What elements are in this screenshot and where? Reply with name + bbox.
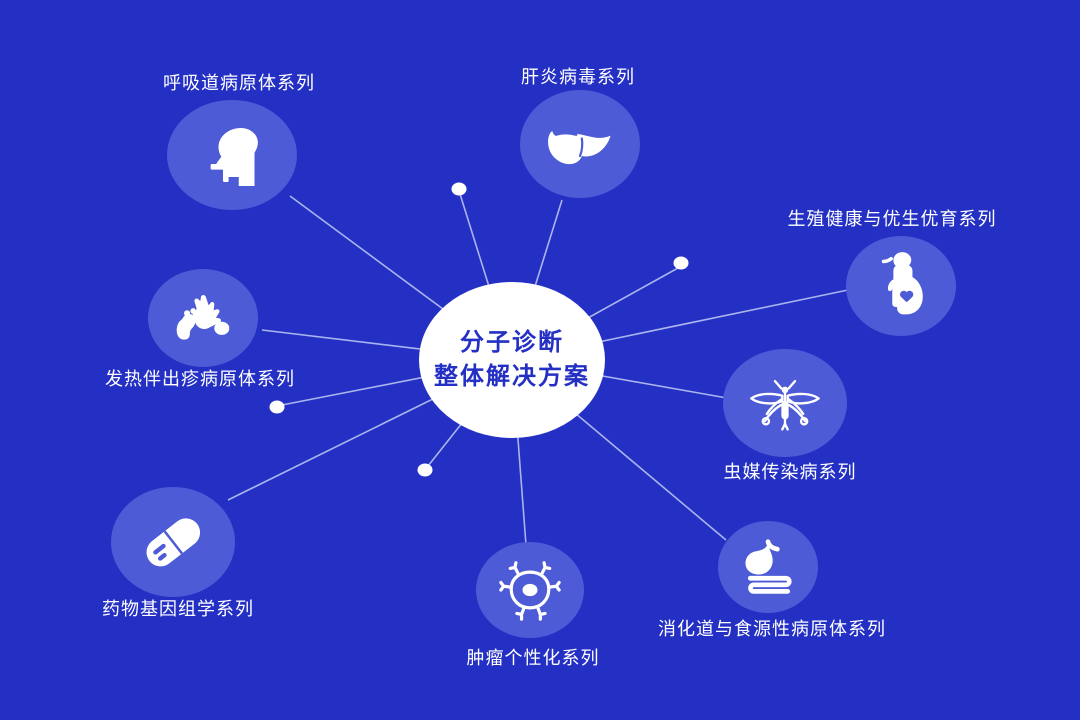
accent-dot-left bbox=[270, 401, 285, 414]
accent-dot-top bbox=[452, 183, 467, 196]
liver-icon bbox=[543, 112, 617, 176]
node-bubble-reproductive[interactable] bbox=[846, 236, 956, 336]
pill-capsule-icon bbox=[135, 505, 211, 579]
node-bubble-respiratory[interactable] bbox=[167, 100, 297, 210]
node-bubble-gastrointestinal[interactable] bbox=[718, 521, 818, 613]
node-bubble-hepatitis[interactable] bbox=[520, 90, 640, 198]
label-pharmacogenomics: 药物基因组学系列 bbox=[102, 595, 254, 621]
stomach-intestine-icon bbox=[737, 537, 799, 597]
label-respiratory: 呼吸道病原体系列 bbox=[163, 69, 315, 95]
head-throat-icon bbox=[196, 119, 268, 191]
accent-dot-bottom bbox=[418, 464, 433, 477]
tumor-cell-icon bbox=[497, 559, 563, 621]
label-reproductive: 生殖健康与优生优育系列 bbox=[788, 205, 997, 231]
pregnant-woman-icon bbox=[872, 250, 930, 322]
label-tumor: 肿瘤个性化系列 bbox=[467, 644, 600, 670]
accent-dot-right bbox=[674, 257, 689, 270]
mosquito-icon bbox=[744, 368, 826, 438]
center-hub[interactable]: 分子诊断 整体解决方案 bbox=[419, 282, 605, 438]
label-gastrointestinal: 消化道与食源性病原体系列 bbox=[658, 615, 886, 641]
label-vector-borne: 虫媒传染病系列 bbox=[724, 458, 857, 484]
label-hepatitis: 肝炎病毒系列 bbox=[521, 63, 635, 89]
center-title-line2: 整体解决方案 bbox=[434, 363, 590, 391]
node-bubble-tumor[interactable] bbox=[476, 542, 584, 638]
label-fever-rash: 发热伴出疹病原体系列 bbox=[105, 365, 295, 391]
node-bubble-vector-borne[interactable] bbox=[723, 349, 847, 457]
node-bubble-pharmacogenomics[interactable] bbox=[111, 487, 235, 597]
infographic-canvas: 分子诊断 整体解决方案 呼吸道病原体系列 肝炎病毒系列 生殖健康与优生优育系列 … bbox=[0, 0, 1080, 720]
node-bubble-fever-rash[interactable] bbox=[148, 269, 258, 367]
center-title-line1: 分子诊断 bbox=[460, 329, 564, 357]
hand-foot-mouth-icon bbox=[169, 287, 237, 349]
